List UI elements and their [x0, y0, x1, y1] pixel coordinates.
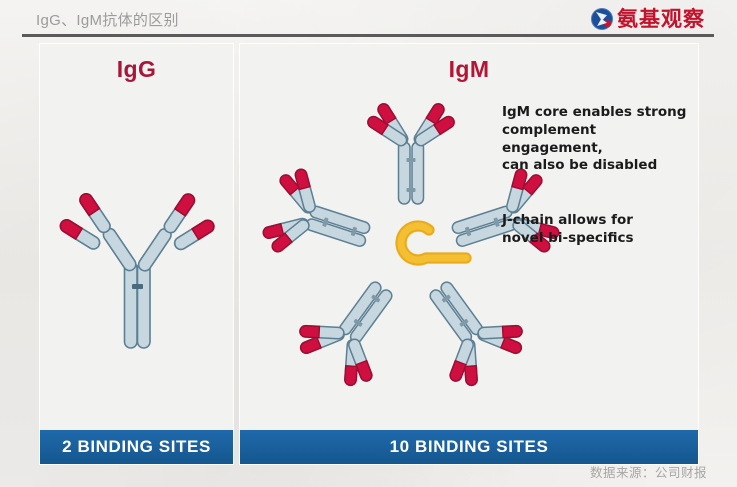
igm-unit-1 — [366, 102, 457, 204]
panel-igg: IgG — [40, 44, 233, 464]
binding-sites-bar-igg: 2 BINDING SITES — [40, 430, 233, 464]
panel-igg-title: IgG — [40, 56, 233, 83]
igm-unit-3 — [401, 261, 534, 397]
binding-sites-bar-igm: 10 BINDING SITES — [240, 430, 698, 464]
igm-unit-5 — [256, 161, 381, 279]
brand-name: 氨基观察 — [617, 9, 705, 30]
panel-igm-title: IgM — [240, 56, 698, 83]
binding-sites-label-igm: 10 BINDING SITES — [390, 437, 549, 457]
page-title: IgG、IgM抗体的区别 — [36, 9, 179, 30]
slide-header: IgG、IgM抗体的区别 氨基观察 — [0, 0, 737, 36]
binding-sites-label-igg: 2 BINDING SITES — [62, 437, 211, 457]
igg-monomer-diagram — [40, 114, 233, 414]
annotation-j-chain: J-chain allows for novel bi-specifics — [502, 212, 677, 248]
header-divider — [22, 34, 714, 37]
annotation-igm-core: IgM core enables strong complement engag… — [502, 104, 697, 175]
brand-logo: 氨基观察 — [591, 7, 705, 31]
igm-unit-4 — [287, 261, 420, 397]
droplet-swirl-icon — [591, 8, 613, 30]
data-source-note: 数据来源：公司财报 — [590, 462, 707, 481]
panel-igm: IgM — [240, 44, 698, 464]
